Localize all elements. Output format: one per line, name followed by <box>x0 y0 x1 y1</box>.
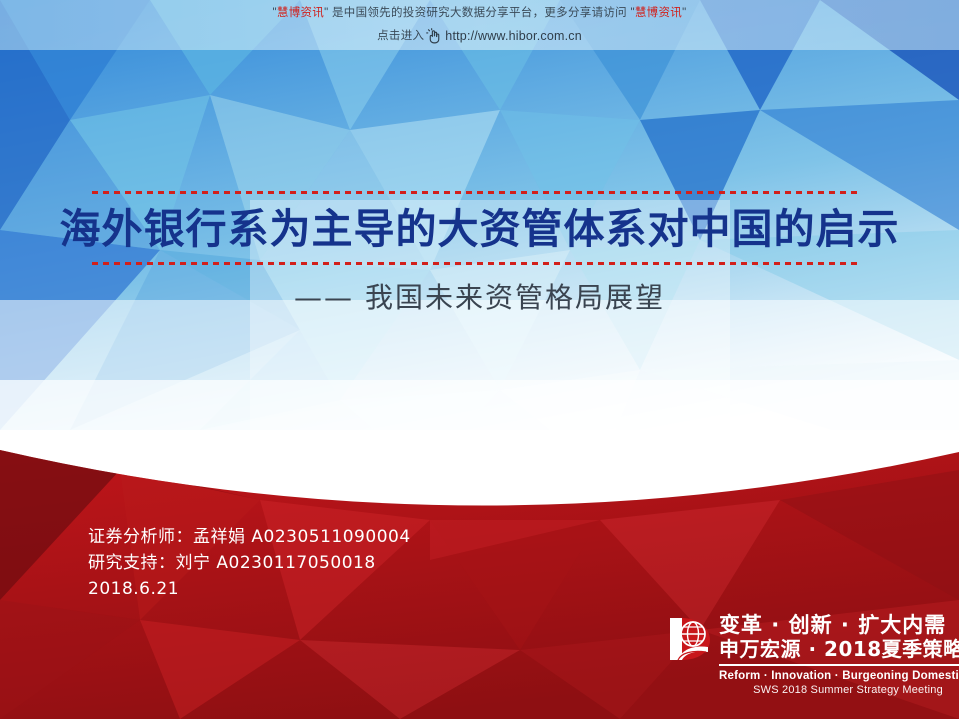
swsresearch-globe-logo-icon <box>668 616 712 662</box>
page-title: 海外银行系为主导的大资管体系对中国的启示 <box>0 203 959 255</box>
logo-event-en: SWS 2018 Summer Strategy Meeting <box>719 683 959 697</box>
logo-slogan-cn: 变革 · 创新 · 扩大内需 <box>719 613 959 637</box>
page-subtitle: —— 我国未来资管格局展望 <box>0 278 959 318</box>
conference-logo: 变革 · 创新 · 扩大内需 申万宏源 · 2018夏季策略会 Reform ·… <box>668 613 959 697</box>
slide-background <box>0 0 959 719</box>
title-divider-bottom <box>92 262 862 265</box>
date-line: 2018.6.21 <box>88 576 411 602</box>
analyst-line: 证券分析师：孟祥娟 A0230511090004 <box>88 524 411 550</box>
presentation-title-slide: "慧博资讯" 是中国领先的投资研究大数据分享平台，更多分享请访问 "慧博资讯" … <box>0 0 959 719</box>
conference-logo-text: 变革 · 创新 · 扩大内需 申万宏源 · 2018夏季策略会 Reform ·… <box>719 613 959 697</box>
research-support-line: 研究支持：刘宁 A0230117050018 <box>88 550 411 576</box>
analyst-credits: 证券分析师：孟祥娟 A0230511090004 研究支持：刘宁 A023011… <box>88 524 411 602</box>
logo-divider <box>719 664 959 666</box>
title-divider-top <box>92 191 862 194</box>
logo-slogan-en: Reform · Innovation · Burgeoning Domesti… <box>719 669 959 683</box>
logo-event-cn: 申万宏源 · 2018夏季策略会 <box>719 637 959 661</box>
